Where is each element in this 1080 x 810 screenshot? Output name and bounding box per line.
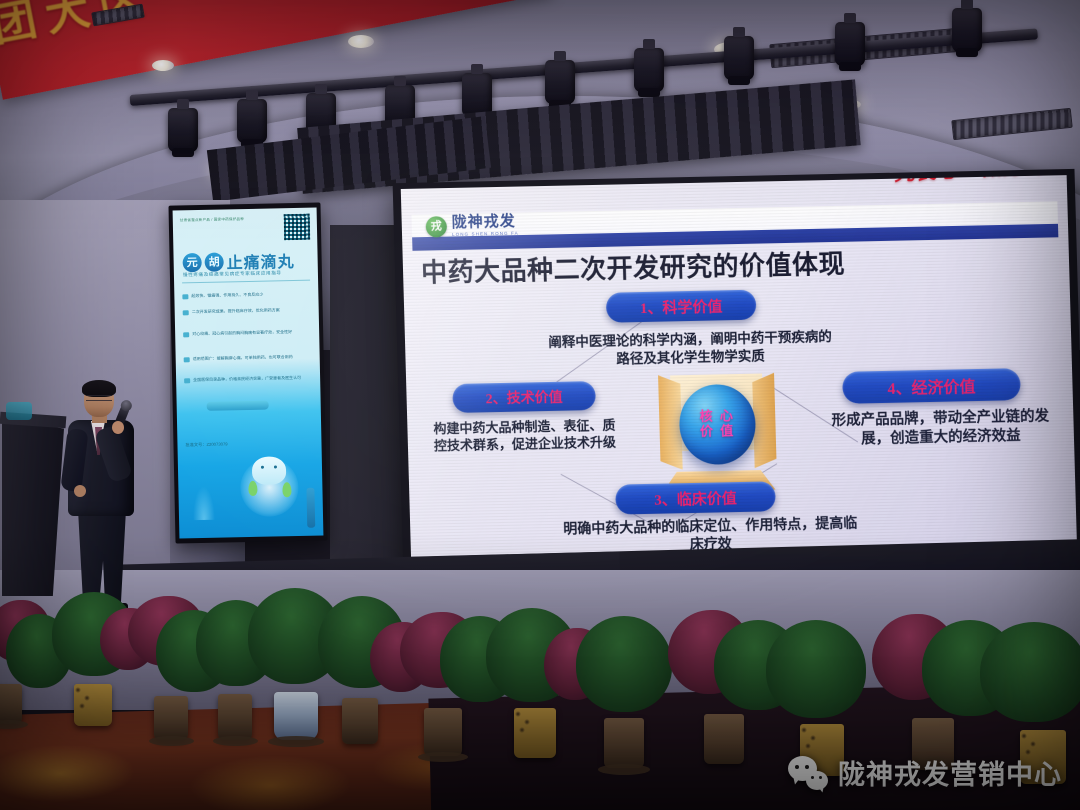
plant-pot — [342, 698, 378, 744]
pot-saucer — [598, 764, 650, 775]
wechat-icon — [788, 756, 828, 790]
logo-mark-icon: 戎 — [426, 216, 448, 237]
value-pill-clinical[interactable]: 3、临床价值 — [615, 481, 776, 514]
watermark-label: 陇神戎发营销中心 — [838, 753, 1062, 792]
glasses-icon — [86, 395, 112, 401]
poster-product-name: 止痛滴丸 — [226, 248, 295, 273]
stage-spotlight — [835, 22, 865, 66]
core-value-hexagon: 核 心 价 值 — [652, 367, 784, 500]
stage-spotlight — [952, 8, 982, 52]
stage-spotlight — [545, 60, 575, 104]
poster-bullet-marker — [183, 332, 189, 337]
stage-spotlight — [237, 99, 267, 143]
hexagon-right-face — [752, 373, 776, 468]
plant-pot — [274, 692, 318, 740]
value-desc-scientific: 阐释中医理论的科学内涵，阐明中药干预疾病的路径及其化学生物学实质 — [545, 328, 836, 370]
poster-bullet-marker — [184, 357, 190, 362]
value-desc-economic: 形成产品品牌，带动全产业链的发展，创造重大的经济效益 — [829, 407, 1052, 450]
value-pill-technical[interactable]: 2、技术价值 — [452, 381, 596, 413]
poster-approval-number: 批准文号：Z20073079 — [185, 441, 227, 448]
poster-bullet-marker — [182, 294, 188, 299]
plant-pot — [704, 714, 744, 764]
wechat-icon-dot — [795, 765, 799, 769]
wechat-icon-dot — [811, 776, 814, 779]
plant-pot — [74, 684, 112, 726]
podium-decoration — [6, 402, 32, 420]
poster-divider — [182, 280, 310, 284]
downlight — [152, 60, 174, 71]
value-pill-economic[interactable]: 4、经济价值 — [842, 368, 1021, 404]
poster-bullet-text: 对心绞痛、冠心病引起的胸闷胸痛有显著疗效，安全性好 — [192, 329, 312, 337]
poster-bullet-marker — [184, 378, 190, 383]
value-desc-technical: 构建中药大品种制造、表征、质控技术群系，促进企业技术升级 — [429, 417, 620, 455]
pot-saucer — [149, 736, 194, 746]
poster-content: 甘肃省重点新产品 / 国家中药保护品种 元 胡 止痛滴丸 慢性疼痛及癌痛常见病症… — [173, 208, 324, 539]
leaf-icon — [248, 481, 257, 496]
stage-spotlight — [724, 36, 754, 80]
stage-spotlight — [168, 108, 198, 152]
pot-saucer — [213, 736, 258, 746]
company-logo: 戎 陇神戎发 LONG SHEN RONG FA — [426, 215, 519, 238]
poster-badge-1: 元 — [182, 252, 201, 271]
plant-pot — [154, 696, 188, 740]
plant-foliage — [576, 616, 672, 712]
wechat-watermark: 陇神戎发营销中心 — [788, 753, 1062, 792]
poster-bullet-text: 全国医保目录品种，价格亲民经济实惠，广受患者及医生认可 — [193, 375, 313, 383]
plant-pot — [514, 708, 556, 758]
slide-title: 中药大品种二次开发研究的价值体现 — [421, 244, 846, 290]
poster-mascot-icon — [252, 456, 287, 485]
presenter-hand-holding-mic — [112, 421, 124, 434]
slide-calligraphy-slogan: 凭良心 · 做好药 — [894, 175, 1050, 186]
plant-foliage — [766, 620, 866, 718]
downlight — [348, 35, 374, 48]
presenter — [56, 383, 148, 615]
logo-name-en: LONG SHEN RONG FA — [452, 232, 519, 238]
slide-logo-bar: 戎 陇神戎发 LONG SHEN RONG FA — [411, 201, 1058, 251]
poster-insurance-badge — [207, 401, 269, 411]
side-led-poster[interactable]: 甘肃省重点新产品 / 国家中药保护品种 元 胡 止痛滴丸 慢性疼痛及癌痛常见病症… — [168, 202, 327, 543]
leaf-icon — [282, 482, 291, 497]
pot-saucer — [418, 752, 468, 762]
poster-side-bar — [306, 488, 315, 528]
poster-plant-art — [192, 486, 215, 520]
poster-subtitle: 慢性疼痛及癌痛常见病症专家临床应用指导 — [183, 270, 282, 278]
wechat-icon-dot — [805, 765, 809, 769]
plant-pot — [218, 694, 252, 740]
logo-name-cn: 陇神戎发 — [452, 215, 519, 231]
plant-pot — [604, 718, 644, 768]
poster-badge-2: 胡 — [204, 252, 223, 271]
qr-code-icon[interactable] — [284, 214, 311, 241]
poster-header-note: 甘肃省重点新产品 / 国家中药保护品种 — [180, 217, 244, 224]
wechat-icon-small-bubble — [806, 771, 828, 790]
poster-bullet-text: 起效快、镇痛强、作用持久、不良反应少 — [191, 291, 311, 299]
logo-mark-glyph: 戎 — [431, 221, 442, 232]
core-value-line2: 价 值 — [700, 424, 736, 440]
presentation-slide: 凭良心 · 做好药 戎 陇神戎发 LONG SHEN RONG FA 中药大品种… — [401, 175, 1077, 567]
presenter-other-hand — [74, 485, 86, 497]
plant-pot — [0, 684, 22, 724]
poster-bullet-text: 二次开发研究成果，提升临床疗效，优化用药方案 — [192, 307, 312, 315]
pot-saucer — [268, 736, 324, 747]
conference-photo: 团大区 凭良心 · 做好药 戎 — [0, 0, 1080, 810]
stage-spotlight — [634, 48, 664, 92]
poster-bullet-marker — [183, 310, 189, 315]
plant-pot — [424, 708, 462, 756]
wechat-icon-dot — [819, 776, 822, 779]
led-screen[interactable]: 凭良心 · 做好药 戎 陇神戎发 LONG SHEN RONG FA 中药大品种… — [393, 169, 1080, 575]
value-pill-scientific[interactable]: 1、科学价值 — [606, 290, 757, 323]
plant-foliage — [980, 622, 1080, 722]
poster-bullet-text: 适用范围广：缓解胸痹心痛，可单独用药，也可联合用药 — [193, 354, 313, 362]
